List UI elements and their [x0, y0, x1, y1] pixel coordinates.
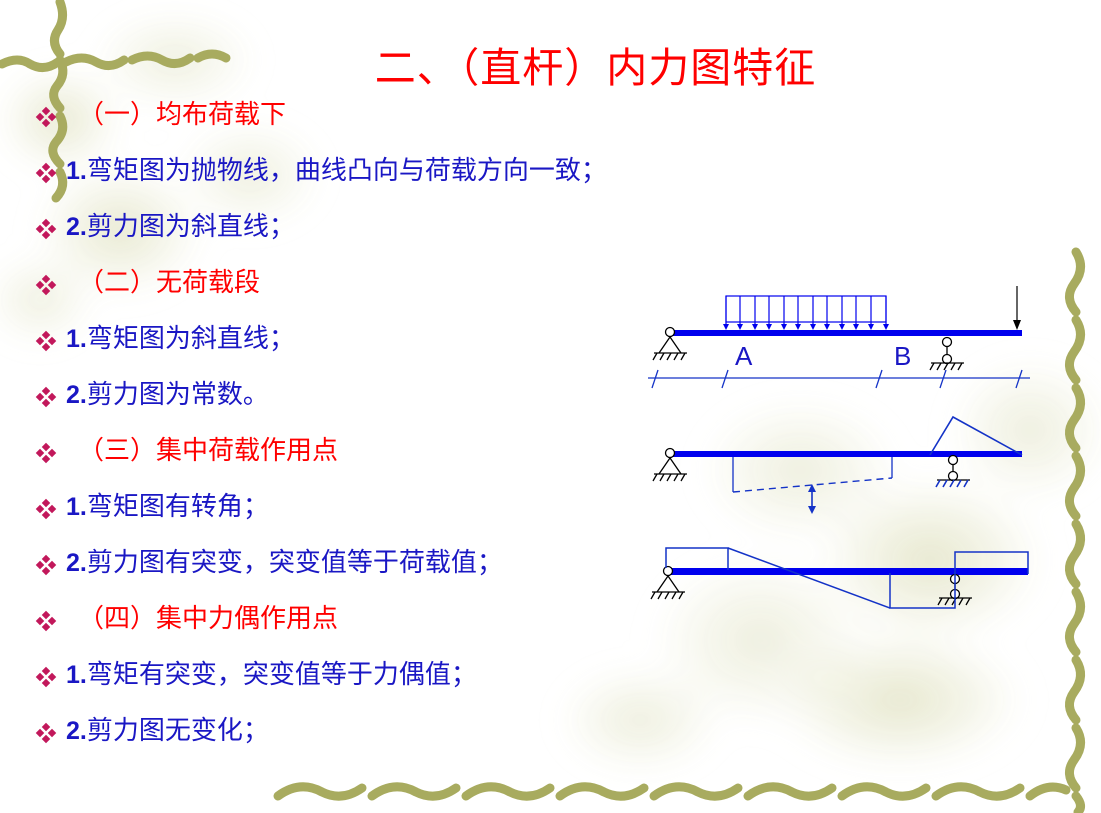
list-item: 1.弯矩有突变，突变值等于力偶值； — [36, 658, 696, 714]
list-item: 2.剪力图为常数。 — [36, 378, 696, 434]
list-item: 2.剪力图为斜直线； — [36, 210, 696, 266]
diamond-bullet-icon — [36, 490, 62, 528]
dimension-ticks — [652, 370, 1022, 388]
list-item: （二）无荷载段 — [36, 266, 696, 322]
diamond-bullet-icon — [36, 210, 62, 248]
list-item-number: 2. — [66, 549, 87, 577]
list-item-body: 剪力图为斜直线； — [87, 212, 295, 241]
bending-moment-diagram — [640, 400, 1060, 530]
diamond-bullet-icon — [36, 322, 62, 360]
list-item: 1.弯矩图为抛物线，曲线凸向与荷载方向一致； — [36, 154, 696, 210]
vine-branch-bottom — [278, 787, 1066, 796]
list-item-label: 1.弯矩有突变，突变值等于力偶值； — [62, 658, 477, 692]
list-item-label: 2.剪力图为斜直线； — [62, 210, 295, 244]
list-item: 1.弯矩图有转角； — [36, 490, 696, 546]
shear-negative-block — [890, 572, 955, 608]
list-item-label: 1.弯矩图为斜直线； — [62, 322, 295, 356]
label-point-a: A — [735, 341, 753, 371]
list-item-label: 2.剪力图有突变，突变值等于荷载值； — [62, 546, 503, 580]
diamond-bullet-icon — [36, 378, 62, 416]
list-item-number: 2. — [66, 717, 87, 745]
list-item-number: 1. — [66, 661, 87, 689]
diamond-bullet-icon — [36, 266, 62, 304]
list-item-label: 1.弯矩图为抛物线，曲线凸向与荷载方向一致； — [62, 154, 607, 188]
list-item-number: 2. — [66, 213, 87, 241]
triangular-moment-peak — [930, 417, 1022, 455]
list-item-number: 2. — [66, 381, 87, 409]
list-item-label: 2.剪力图无变化； — [62, 714, 269, 748]
list-item-number: 1. — [66, 325, 87, 353]
list-item-body: 弯矩有突变，突变值等于力偶值； — [87, 660, 477, 689]
list-item-label: 2.剪力图为常数。 — [62, 378, 269, 412]
beam-line — [670, 451, 1022, 457]
sag-ordinate-arrow — [808, 484, 816, 514]
list-item-number: 1. — [66, 493, 87, 521]
beam-line — [670, 330, 1022, 336]
beam-line — [668, 568, 1028, 575]
list-item-label: （四）集中力偶作用点 — [62, 602, 338, 636]
list-item-body: 弯矩图有转角； — [87, 492, 269, 521]
concentrated-load-arrow — [1013, 286, 1021, 330]
shear-force-diagram — [640, 520, 1060, 630]
bullet-list: （一）均布荷载下 1.弯矩图为抛物线，曲线凸向与荷载方向一致； 2.剪力图为斜直… — [36, 98, 696, 770]
shear-sloping-line — [728, 548, 890, 608]
list-item: （一）均布荷载下 — [36, 98, 696, 154]
diamond-bullet-icon — [36, 602, 62, 640]
list-item-body: 剪力图有突变，突变值等于荷载值； — [87, 548, 503, 577]
list-item-label: （一）均布荷载下 — [62, 98, 286, 132]
list-item-body: 弯矩图为斜直线； — [87, 324, 295, 353]
page-title: 二、（直杆）内力图特征 — [0, 34, 1101, 94]
diamond-bullet-icon — [36, 714, 62, 752]
diamond-bullet-icon — [36, 546, 62, 584]
list-item-body: 剪力图无变化； — [87, 716, 269, 745]
dimension-line — [648, 370, 1030, 388]
shear-positive-block-left — [666, 548, 728, 570]
list-item-label: （三）集中荷载作用点 — [62, 434, 338, 468]
list-item: 2.剪力图有突变，突变值等于荷载值； — [36, 546, 696, 602]
list-item: （四）集中力偶作用点 — [36, 602, 696, 658]
list-item-body: 弯矩图为抛物线，曲线凸向与荷载方向一致； — [87, 156, 607, 185]
list-item-number: 1. — [66, 157, 87, 185]
list-item-body: 剪力图为常数。 — [87, 380, 269, 409]
link-support — [930, 338, 964, 371]
list-item-label: （二）无荷载段 — [62, 266, 260, 300]
vine-branch-right-edge — [1069, 252, 1080, 812]
beam-load-diagram: A B — [640, 280, 1060, 400]
list-item-label: 1.弯矩图有转角； — [62, 490, 269, 524]
list-item: 1.弯矩图为斜直线； — [36, 322, 696, 378]
diamond-bullet-icon — [36, 154, 62, 192]
diamond-bullet-icon — [36, 658, 62, 696]
list-item: （三）集中荷载作用点 — [36, 434, 696, 490]
list-item: 2.剪力图无变化； — [36, 714, 696, 770]
udl-arrows — [723, 296, 889, 330]
label-point-b: B — [894, 341, 911, 371]
diamond-bullet-icon — [36, 434, 62, 472]
uniform-distributed-load — [723, 296, 889, 330]
diamond-bullet-icon — [36, 98, 62, 136]
link-support — [733, 417, 1022, 514]
